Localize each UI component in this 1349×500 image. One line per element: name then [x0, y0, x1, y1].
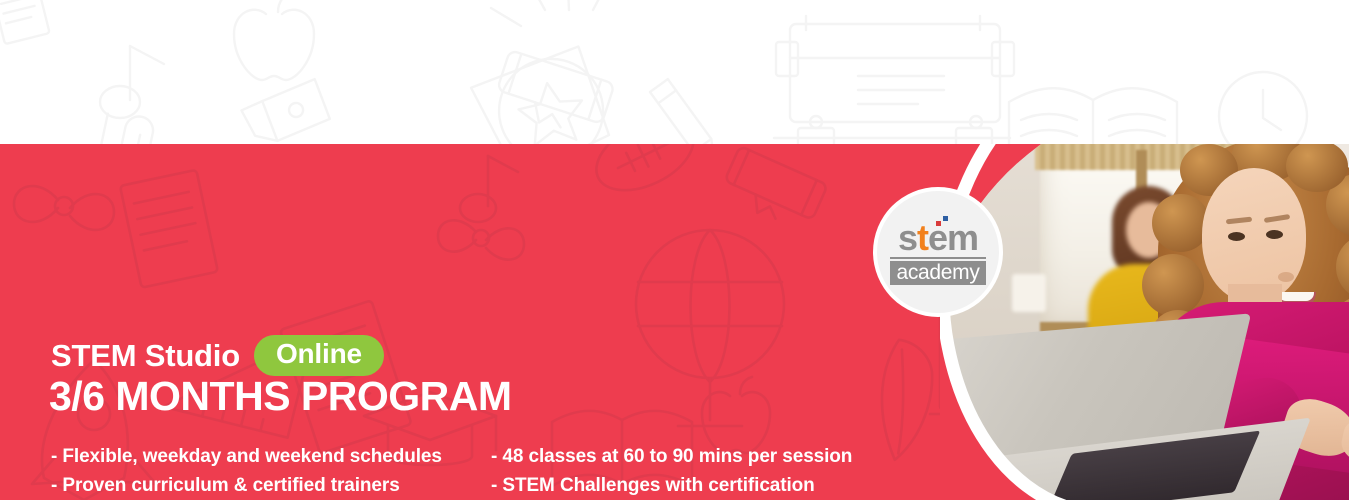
headline-row: STEM Studio Online [51, 335, 384, 376]
logo-letter-t: t [917, 217, 928, 258]
feature-item: - 48 classes at 60 to 90 mins per sessio… [491, 442, 852, 471]
photo-scene [940, 144, 1349, 500]
logo-blue-dot-icon [943, 216, 948, 221]
stem-academy-logo: stem academy [877, 191, 999, 313]
logo-letter-s: s [898, 217, 917, 258]
photo-cup [1012, 274, 1046, 312]
logo-wordmark: stem [898, 220, 978, 256]
top-pattern-strip [0, 0, 1349, 144]
education-icon-pattern-top [0, 0, 1349, 144]
photo-clip-arc [940, 144, 1349, 500]
feature-item: - Flexible, weekday and weekend schedule… [51, 442, 442, 471]
student-photo [940, 144, 1349, 500]
headline-program: 3/6 MONTHS PROGRAM [49, 373, 512, 420]
promo-banner: 2+2 [0, 0, 1349, 500]
headline-primary: STEM Studio [51, 338, 240, 374]
logo-red-dot-icon [936, 221, 941, 226]
feature-item: - STEM Challenges with certification [491, 471, 852, 500]
logo-subtitle: academy [890, 261, 986, 285]
logo-inner: stem academy [890, 220, 986, 285]
features-right-column: - 48 classes at 60 to 90 mins per sessio… [491, 442, 852, 500]
features-left-column: - Flexible, weekday and weekend schedule… [51, 442, 442, 500]
feature-item: - Proven curriculum & certified trainers [51, 471, 442, 500]
online-badge: Online [254, 335, 384, 376]
